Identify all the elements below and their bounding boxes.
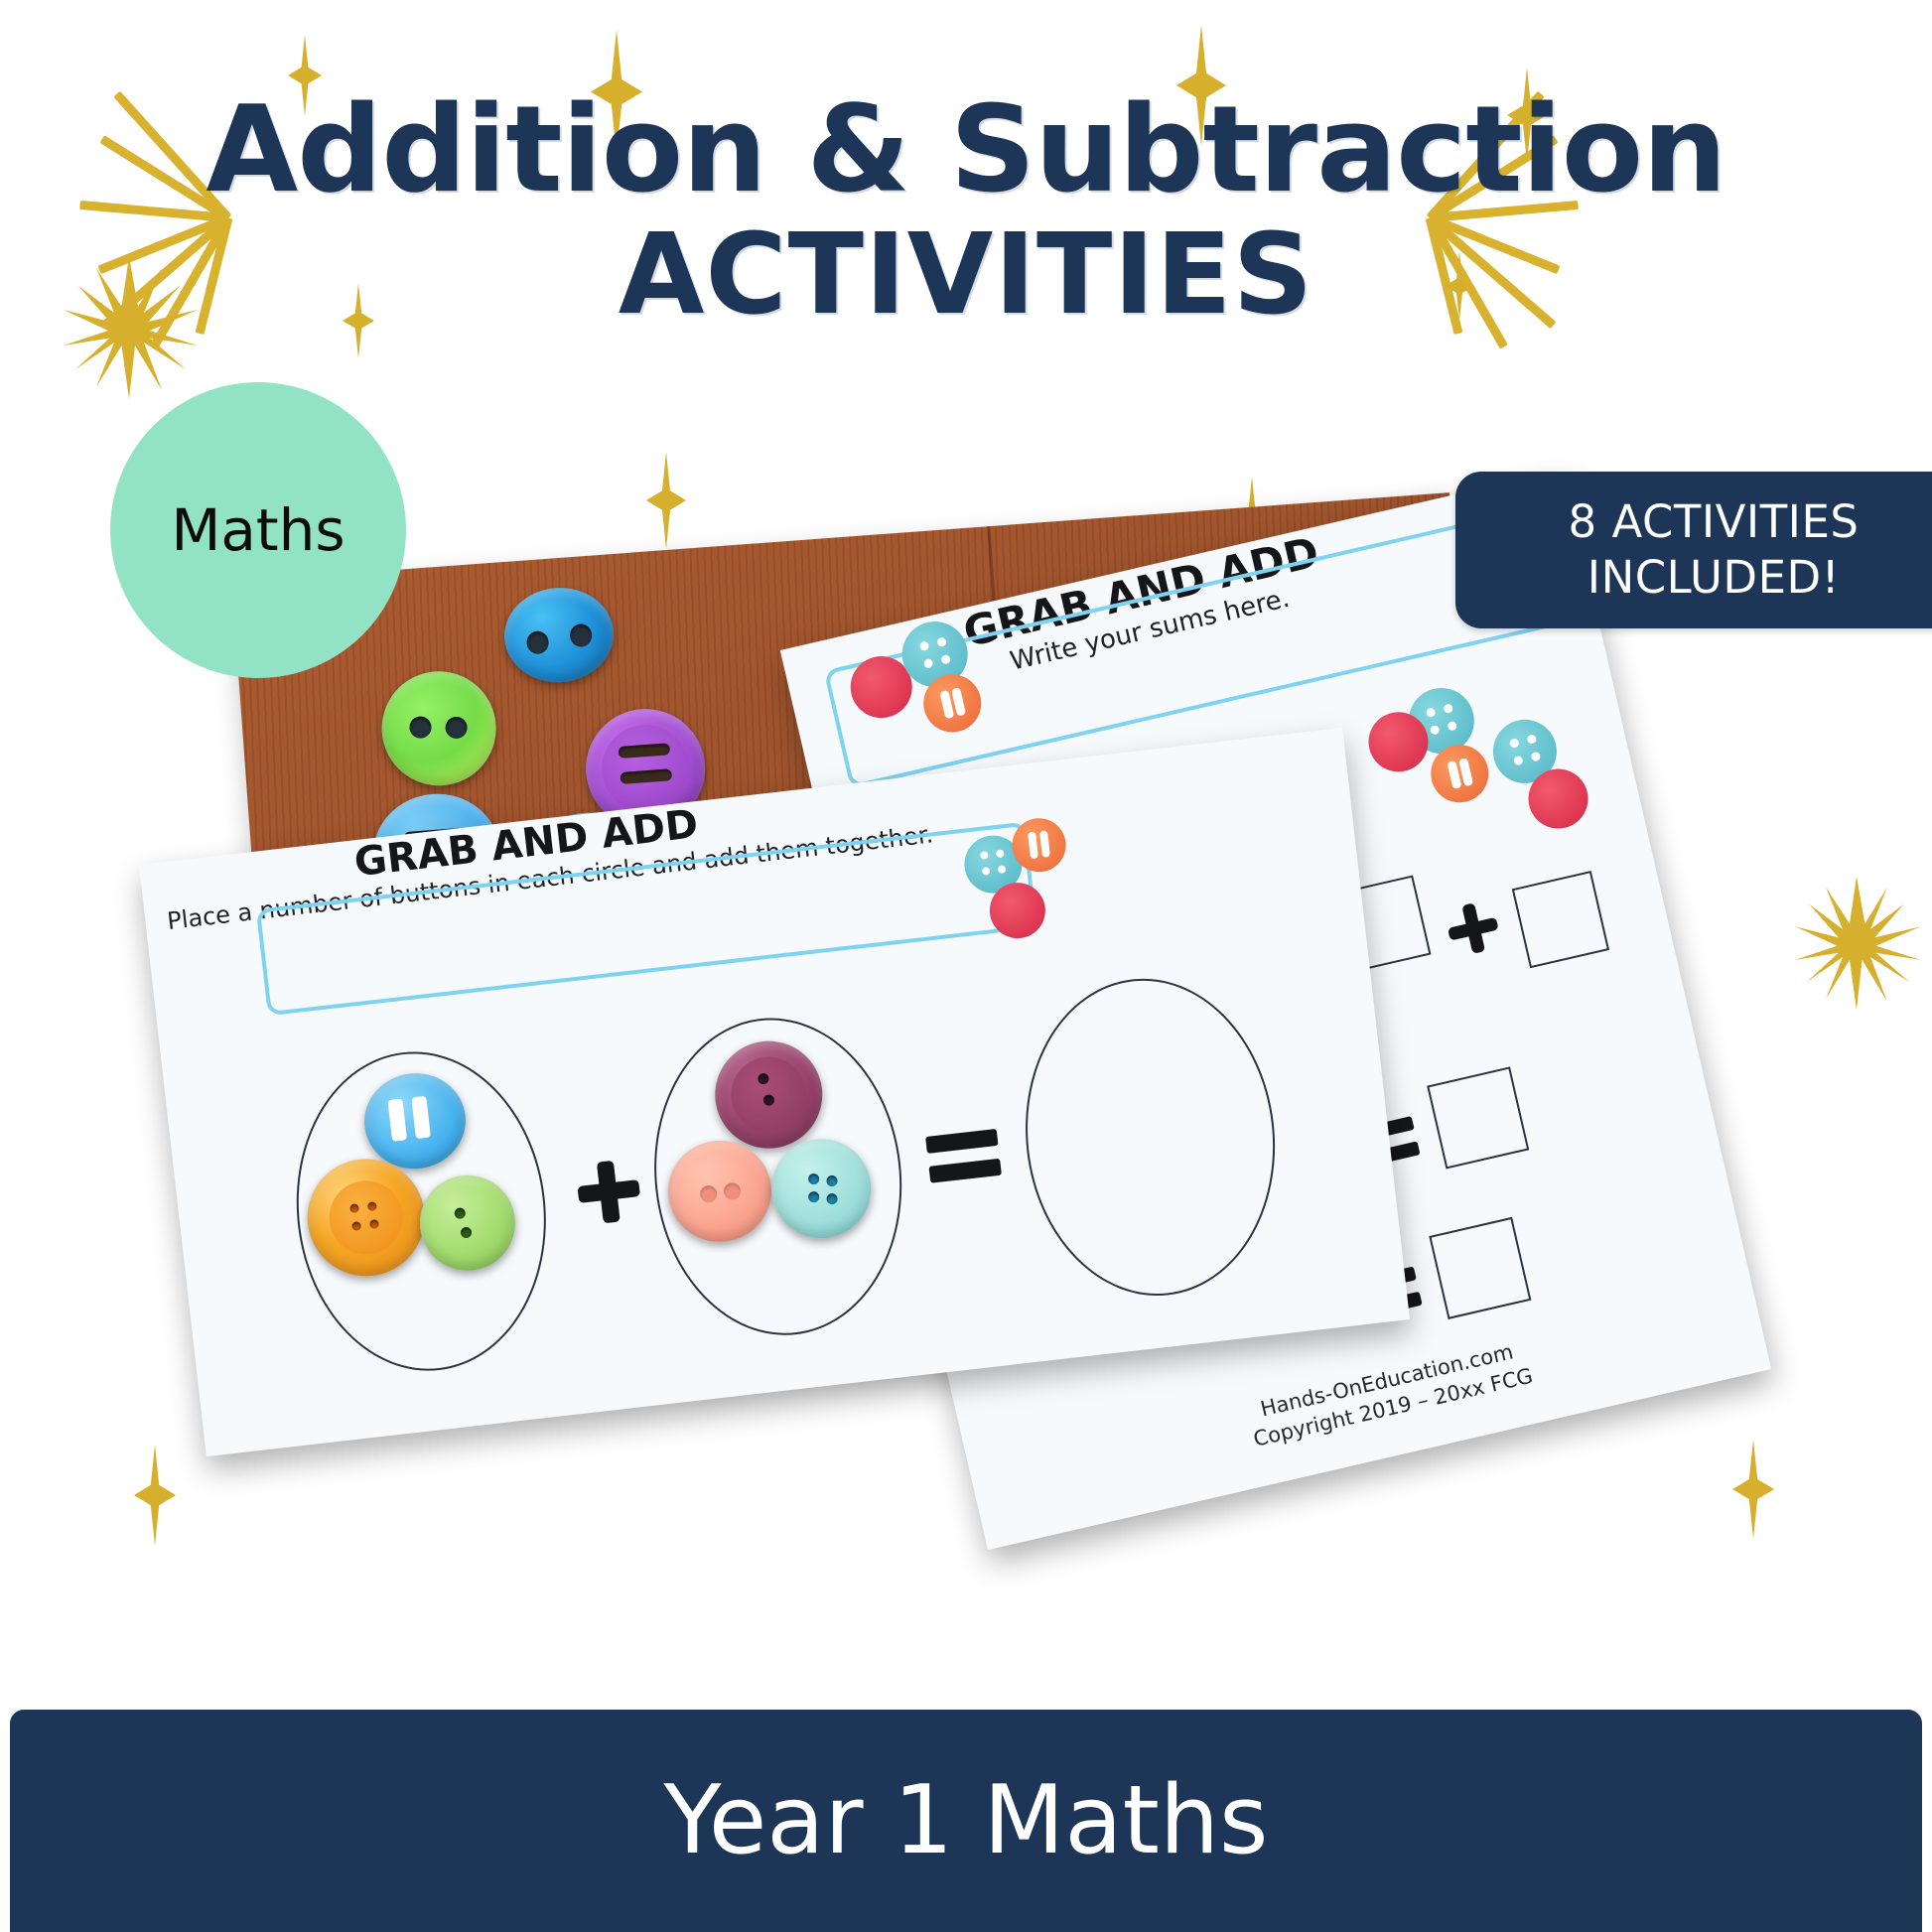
front-equals-bar-bottom (928, 1159, 1001, 1183)
answer-circle[interactable] (1009, 965, 1292, 1309)
copyright-block: Hands-OnEducation.com Copyright 2019 – 2… (1180, 1320, 1599, 1469)
activities-count-badge: 8 ACTIVITIES INCLUDED! (1455, 472, 1932, 628)
sum-box-b[interactable] (1512, 871, 1609, 968)
sum-box-result[interactable] (1429, 1217, 1531, 1319)
activities-badge-line-2: INCLUDED! (1587, 550, 1840, 606)
page-root: Addition & Subtraction ACTIVITIES (0, 0, 1932, 1932)
front-equals-bar-top (925, 1129, 998, 1154)
starburst-icon-right (1787, 874, 1926, 1013)
title-line-2: ACTIVITIES (0, 213, 1932, 338)
activities-badge-line-1: 8 ACTIVITIES (1569, 494, 1860, 550)
page-title: Addition & Subtraction ACTIVITIES (0, 87, 1932, 339)
footer-banner: Year 1 Maths (10, 1710, 1922, 1932)
title-line-1: Addition & Subtraction (0, 87, 1932, 213)
sparkle-star-icon-7 (646, 452, 686, 549)
subject-badge-label: Maths (171, 496, 345, 564)
front-plus-sign-v (597, 1161, 621, 1224)
subject-badge[interactable]: Maths (110, 382, 406, 678)
sparkle-star-icon-10 (1732, 1440, 1774, 1539)
sparkle-star-icon-11 (134, 1445, 176, 1546)
footer-banner-label: Year 1 Maths (663, 1766, 1268, 1875)
sum-box-result[interactable] (1427, 1066, 1529, 1169)
